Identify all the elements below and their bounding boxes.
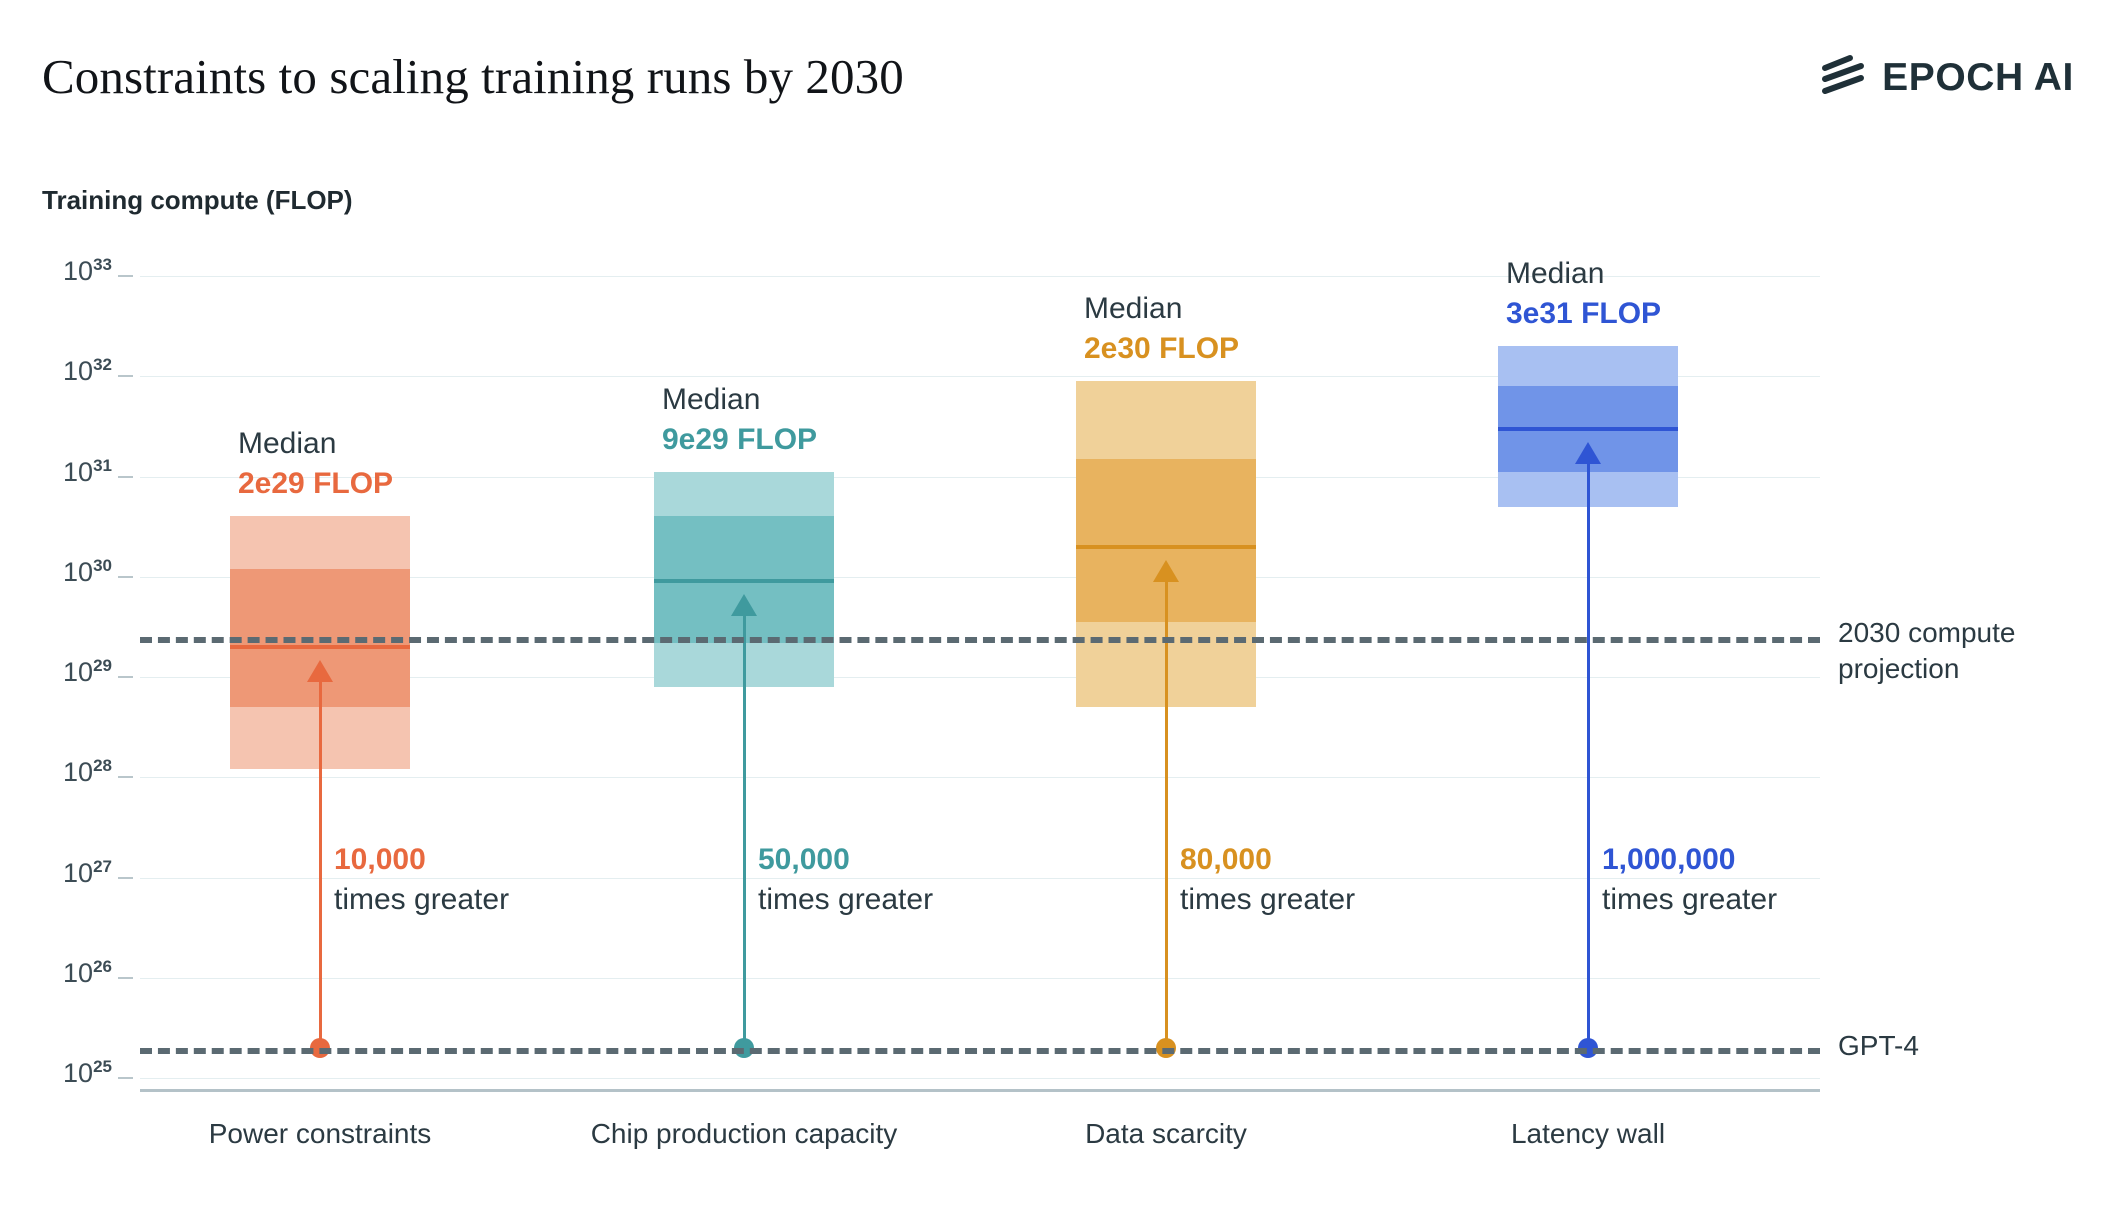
reference-line-label-line1: 2030 compute bbox=[1838, 615, 2015, 651]
y-tick-label: 1027 bbox=[0, 858, 112, 889]
gridline bbox=[140, 777, 1820, 778]
reference-line-label: 2030 computeprojection bbox=[1838, 615, 2015, 687]
y-tick-label: 1031 bbox=[0, 457, 112, 488]
median-label-value: 3e31 FLOP bbox=[1506, 294, 1661, 334]
multiplier-annotation: 10,000times greater bbox=[334, 840, 509, 920]
median-line bbox=[230, 645, 410, 649]
multiplier-suffix: times greater bbox=[1602, 880, 1777, 920]
y-tick-label: 1033 bbox=[0, 256, 112, 287]
y-tick-mark bbox=[118, 776, 133, 778]
chart-plot-area: 103310321031103010291028102710261025 Med… bbox=[0, 0, 2118, 1208]
arrow-head-icon bbox=[1575, 442, 1601, 464]
median-label: Median3e31 FLOP bbox=[1506, 254, 1661, 334]
median-line bbox=[1076, 545, 1256, 549]
arrow-head-icon bbox=[1153, 560, 1179, 582]
x-axis-label: Data scarcity bbox=[1085, 1118, 1247, 1150]
median-label-value: 9e29 FLOP bbox=[662, 420, 817, 460]
y-tick-label: 1030 bbox=[0, 557, 112, 588]
y-tick-mark bbox=[118, 877, 133, 879]
gridline bbox=[140, 978, 1820, 979]
reference-line bbox=[140, 1048, 1820, 1054]
arrow-head-icon bbox=[731, 594, 757, 616]
y-tick-mark bbox=[118, 275, 133, 277]
median-label-caption: Median bbox=[1084, 289, 1239, 329]
reference-line-label-line2: projection bbox=[1838, 651, 2015, 687]
median-line bbox=[654, 579, 834, 583]
median-label-caption: Median bbox=[238, 424, 393, 464]
multiplier-suffix: times greater bbox=[758, 880, 933, 920]
multiplier-annotation: 50,000times greater bbox=[758, 840, 933, 920]
arrow-stem bbox=[319, 672, 322, 1048]
multiplier-suffix: times greater bbox=[334, 880, 509, 920]
median-label: Median9e29 FLOP bbox=[662, 380, 817, 460]
median-line bbox=[1498, 427, 1678, 431]
y-tick-mark bbox=[118, 576, 133, 578]
arrow-head-icon bbox=[307, 660, 333, 682]
arrow-stem bbox=[743, 606, 746, 1047]
y-tick-label: 1029 bbox=[0, 657, 112, 688]
x-axis-label: Latency wall bbox=[1511, 1118, 1665, 1150]
gridline bbox=[140, 1078, 1820, 1079]
y-tick-mark bbox=[118, 977, 133, 979]
median-label: Median2e29 FLOP bbox=[238, 424, 393, 504]
y-tick-mark bbox=[118, 476, 133, 478]
y-tick-label: 1032 bbox=[0, 356, 112, 387]
y-tick-mark bbox=[118, 375, 133, 377]
arrow-stem bbox=[1587, 454, 1590, 1048]
x-axis-label: Chip production capacity bbox=[591, 1118, 898, 1150]
median-label-caption: Median bbox=[662, 380, 817, 420]
x-axis-label: Power constraints bbox=[209, 1118, 432, 1150]
y-tick-label: 1025 bbox=[0, 1058, 112, 1089]
multiplier-value: 1,000,000 bbox=[1602, 840, 1777, 880]
y-tick-mark bbox=[118, 676, 133, 678]
multiplier-value: 50,000 bbox=[758, 840, 933, 880]
x-axis-baseline bbox=[140, 1089, 1820, 1092]
multiplier-value: 80,000 bbox=[1180, 840, 1355, 880]
multiplier-suffix: times greater bbox=[1180, 880, 1355, 920]
reference-line-label: GPT-4 bbox=[1838, 1028, 1919, 1064]
multiplier-annotation: 1,000,000times greater bbox=[1602, 840, 1777, 920]
median-label-value: 2e30 FLOP bbox=[1084, 329, 1239, 369]
reference-line bbox=[140, 637, 1820, 643]
median-label-caption: Median bbox=[1506, 254, 1661, 294]
median-label: Median2e30 FLOP bbox=[1084, 289, 1239, 369]
reference-line-label-line1: GPT-4 bbox=[1838, 1028, 1919, 1064]
multiplier-annotation: 80,000times greater bbox=[1180, 840, 1355, 920]
y-tick-label: 1028 bbox=[0, 757, 112, 788]
multiplier-value: 10,000 bbox=[334, 840, 509, 880]
y-tick-label: 1026 bbox=[0, 958, 112, 989]
y-tick-mark bbox=[118, 1077, 133, 1079]
median-label-value: 2e29 FLOP bbox=[238, 464, 393, 504]
